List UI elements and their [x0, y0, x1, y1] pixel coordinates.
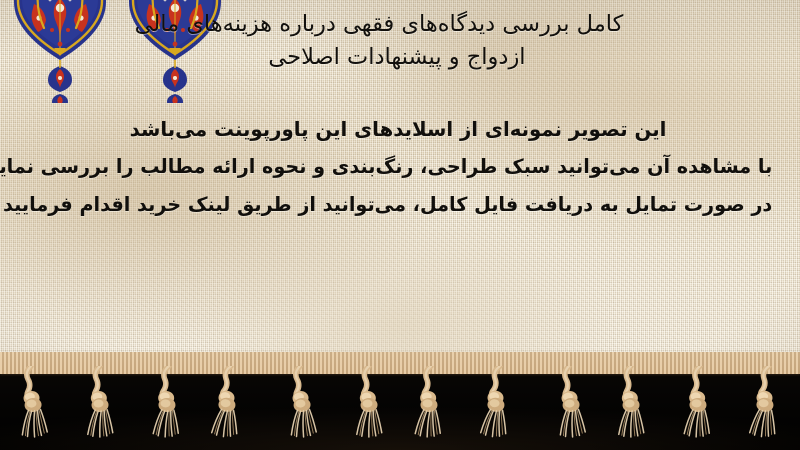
body-line-2: با مشاهده آن می‌توانید سبک طراحی، رنگ‌بن… — [24, 148, 773, 186]
fringe-tassel — [748, 366, 790, 440]
fringe-tassel — [79, 366, 121, 440]
fringe-tassel — [210, 366, 252, 440]
fringe-tassel — [479, 366, 521, 440]
fringe-tassel — [610, 366, 652, 440]
title-line-2: ازدواج و پیشنهادات اصلاحی — [20, 41, 774, 74]
slide-title: کامل بررسی دیدگاه‌های فقهی درباره هزینه‌… — [20, 8, 774, 74]
carpet-fringe — [0, 352, 800, 450]
fringe-tassel — [548, 366, 590, 440]
fringe-tassel — [279, 366, 321, 440]
fringe-tassel — [10, 366, 52, 440]
ornament-pendant-lower — [167, 94, 183, 103]
body-line-3: در صورت تمایل به دریافت فایل کامل، می‌تو… — [24, 186, 773, 224]
fringe-tassel — [348, 366, 390, 440]
fringe-tassel — [410, 366, 452, 440]
slide-body-text: این تصویر نمونه‌ای از اسلایدهای این پاور… — [18, 110, 778, 224]
ornament-pendant-lower — [52, 94, 68, 103]
body-line-1: این تصویر نمونه‌ای از اسلایدهای این پاور… — [24, 110, 773, 148]
title-line-1: کامل بررسی دیدگاه‌های فقهی درباره هزینه‌… — [20, 8, 738, 41]
fringe-tassel — [679, 366, 721, 440]
slide-canvas: کامل بررسی دیدگاه‌های فقهی درباره هزینه‌… — [0, 0, 800, 450]
fringe-tassel — [148, 366, 190, 440]
